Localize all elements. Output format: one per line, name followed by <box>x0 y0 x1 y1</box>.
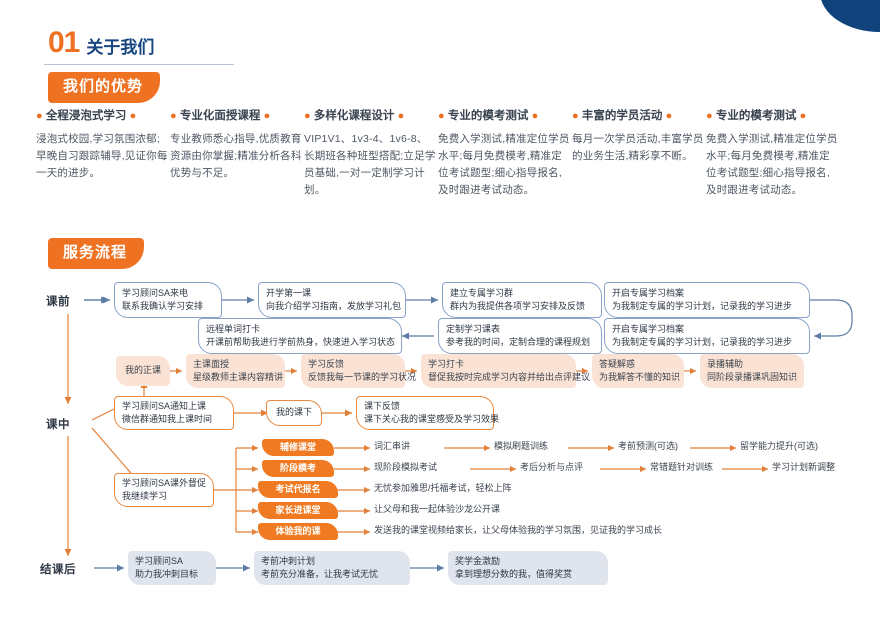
flow-node-main-1: 主课面授 星级教师主课内容精讲 <box>186 354 285 388</box>
flow-tag-1: 辅修课堂 <box>262 439 334 456</box>
node-line-2: 反馈我每一节课的学习状况 <box>308 371 398 384</box>
flow-step-5-1: 发送我的课堂视频给家长，让父母体验我的学习氛围，见证我的学习成长 <box>374 524 662 537</box>
advantage-title-text: 专业的模考测试 <box>716 110 797 122</box>
node-line-1: 学习顾问SA <box>135 555 209 568</box>
node-line-1: 主课面授 <box>193 358 278 371</box>
node-line-2: 我继续学习 <box>122 490 206 503</box>
node-line-2: 群内为我提供各项学习安排及反馈 <box>450 300 594 313</box>
advantage-title-text: 专业的模考测试 <box>448 110 529 122</box>
flow-step-1-4: 留学能力提升(可选) <box>740 440 818 453</box>
flow-node-pre-2: 开学第一课 向我介绍学习指南，发放学习礼包 <box>258 282 406 318</box>
advantage-card: ● 丰富的学员活动 ● 每月一次学员活动,丰富学员的业务生活,精彩享不断。 <box>572 110 705 199</box>
flow-tag-2: 阶段模考 <box>262 460 334 477</box>
node-line-1: 学习反馈 <box>308 358 398 371</box>
bullet-icon: ● <box>398 110 405 122</box>
flow-node-pre-1: 学习顾问SA来电 联系我确认学习安排 <box>114 282 222 318</box>
advantage-title: ● 多样化课程设计 ● <box>304 110 437 124</box>
node-line-2: 课下关心我的课堂感受及学习效果 <box>364 413 486 426</box>
advantage-title: ● 专业的模考测试 ● <box>706 110 839 124</box>
flow-node-main-5: 录播辅助 同阶段录播课巩固知识 <box>700 354 804 388</box>
node-line-2: 开课前帮助我进行学前热身，快速进入学习状态 <box>206 336 394 349</box>
advantage-body: VIP1V1、1v3-4、1v6-8、长期班各种班型搭配;立足学员基础,一对一定… <box>304 131 437 199</box>
advantage-title: ● 全程浸泡式学习 ● <box>36 110 169 124</box>
flow-step-4-1: 让父母和我一起体验沙龙公开课 <box>374 503 500 516</box>
flow-step-2-4: 学习计划新调整 <box>772 461 835 474</box>
bullet-icon: ● <box>170 110 177 122</box>
flow-node-mid-3: 课下反馈 课下关心我的课堂感受及学习效果 <box>356 396 494 430</box>
advantage-card: ● 专业的模考测试 ● 免费入学测试,精准定位学员水平;每月免费模考,精准定位考… <box>706 110 839 199</box>
node-line-2: 星级教师主课内容精讲 <box>193 371 278 384</box>
node-line-1: 开学第一课 <box>266 287 398 300</box>
flow-node-mid-1: 学习顾问SA通知上课 微信群通知我上课时间 <box>114 396 234 430</box>
node-line-1: 定制学习课表 <box>446 323 594 336</box>
node-line-2: 同阶段录播课巩固知识 <box>707 371 797 384</box>
advantage-title-text: 专业化面授课程 <box>180 110 261 122</box>
node-line-1: 学习打卡 <box>428 358 569 371</box>
section-divider <box>44 64 234 65</box>
advantage-body: 专业教师悉心指导,优质教育资源由你掌握;精准分析各科优势与不足。 <box>170 131 303 182</box>
advantage-title: ● 专业的模考测试 ● <box>438 110 571 124</box>
corner-decoration <box>820 0 880 32</box>
pill-advantage: 我们的优势 <box>48 72 160 103</box>
bullet-icon: ● <box>666 110 673 122</box>
flow-node-pre-7: 开启专属学习档案 为我制定专属的学习计划，记录我的学习进步 <box>604 318 810 354</box>
flow-node-main-3: 学习打卡 督促我按时完成学习内容并给出点评建议 <box>421 354 576 388</box>
bullet-icon: ● <box>800 110 807 122</box>
advantage-title-text: 全程浸泡式学习 <box>46 110 127 122</box>
bullet-icon: ● <box>304 110 311 122</box>
flow-node-main-4: 答疑解惑 为我解答不懂的知识 <box>592 354 684 388</box>
node-line-1: 答疑解惑 <box>599 358 677 371</box>
node-line-1: 考前冲刺计划 <box>261 555 403 568</box>
node-line-1: 我的正课 <box>125 364 161 377</box>
flow-node-mid-source: 学习顾问SA课外督促 我继续学习 <box>114 473 214 507</box>
node-line-1: 远程单词打卡 <box>206 323 394 336</box>
advantage-title: ● 丰富的学员活动 ● <box>572 110 705 124</box>
node-line-1: 课下反馈 <box>364 400 486 413</box>
flow-node-after-2: 考前冲刺计划 考前充分准备，让我考试无忧 <box>254 551 410 585</box>
advantage-body: 免费入学测试,精准定位学员水平;每月免费模考,精准定位考试题型;细心指导报名,及… <box>438 131 571 199</box>
node-line-2: 向我介绍学习指南，发放学习礼包 <box>266 300 398 313</box>
section-title: 关于我们 <box>86 39 154 58</box>
flow-node-pre-3: 建立专属学习群 群内为我提供各项学习安排及反馈 <box>442 282 602 318</box>
section-number: 01 <box>48 28 79 58</box>
stage-label-pre: 课前 <box>46 293 70 309</box>
advantage-body: 每月一次学员活动,丰富学员的业务生活,精彩享不断。 <box>572 131 705 165</box>
node-line-2: 为我制定专属的学习计划，记录我的学习进步 <box>612 336 802 349</box>
node-line-2: 为我制定专属的学习计划，记录我的学习进步 <box>612 300 802 313</box>
flow-tag-3: 考试代报名 <box>258 481 338 498</box>
advantage-card: ● 专业化面授课程 ● 专业教师悉心指导,优质教育资源由你掌握;精准分析各科优势… <box>170 110 303 199</box>
node-line-1: 学习顾问SA来电 <box>122 287 214 300</box>
node-line-1: 学习顾问SA课外督促 <box>122 477 206 490</box>
flow-node-pre-4: 开启专属学习档案 为我制定专属的学习计划，记录我的学习进步 <box>604 282 810 318</box>
advantages-list: ● 全程浸泡式学习 ● 浸泡式校园,学习氛围浓郁;早晚自习跟踪辅导,见证你每一天… <box>36 110 876 199</box>
flow-node-mid-2: 我的课下 <box>266 400 322 426</box>
node-line-2: 参考我的时间，定制合理的课程规划 <box>446 336 594 349</box>
flow-step-2-2: 考后分析与点评 <box>520 461 583 474</box>
flow-node-after-3: 奖学金激励 拿到理想分数的我，值得奖赏 <box>448 551 608 585</box>
node-line-2: 微信群通知我上课时间 <box>122 413 226 426</box>
flow-step-1-2: 模拟刷题训练 <box>494 440 548 453</box>
flow-node-after-1: 学习顾问SA 助力我冲刺目标 <box>128 551 216 585</box>
flow-step-2-1: 现阶段模拟考试 <box>374 461 437 474</box>
flow-step-3-1: 无忧参加雅思/托福考试，轻松上阵 <box>374 482 512 495</box>
bullet-icon: ● <box>532 110 539 122</box>
node-line-1: 开启专属学习档案 <box>612 287 802 300</box>
flow-node-main-0: 我的正课 <box>116 356 170 386</box>
section-header: 01 关于我们 <box>48 28 154 58</box>
flow-node-pre-6: 定制学习课表 参考我的时间，定制合理的课程规划 <box>438 318 602 354</box>
bullet-icon: ● <box>706 110 713 122</box>
flow-step-1-1: 词汇串讲 <box>374 440 410 453</box>
stage-label-after: 结课后 <box>40 561 76 577</box>
node-line-2: 助力我冲刺目标 <box>135 568 209 581</box>
advantage-card: ● 全程浸泡式学习 ● 浸泡式校园,学习氛围浓郁;早晚自习跟踪辅导,见证你每一天… <box>36 110 169 199</box>
node-line-2: 拿到理想分数的我，值得奖赏 <box>455 568 601 581</box>
node-line-1: 我的课下 <box>276 406 312 419</box>
advantage-card: ● 专业的模考测试 ● 免费入学测试,精准定位学员水平;每月免费模考,精准定位考… <box>438 110 571 199</box>
flow-step-1-3: 考前预测(可选) <box>618 440 678 453</box>
bullet-icon: ● <box>36 110 43 122</box>
node-line-1: 奖学金激励 <box>455 555 601 568</box>
bullet-icon: ● <box>438 110 445 122</box>
advantage-title-text: 丰富的学员活动 <box>582 110 663 122</box>
advantage-title: ● 专业化面授课程 ● <box>170 110 303 124</box>
node-line-1: 开启专属学习档案 <box>612 323 802 336</box>
node-line-1: 建立专属学习群 <box>450 287 594 300</box>
node-line-1: 录播辅助 <box>707 358 797 371</box>
stage-label-mid: 课中 <box>46 416 70 432</box>
bullet-icon: ● <box>130 110 137 122</box>
node-line-1: 学习顾问SA通知上课 <box>122 400 226 413</box>
pill-process: 服务流程 <box>48 238 144 269</box>
advantage-title-text: 多样化课程设计 <box>314 110 395 122</box>
flow-tag-4: 家长进课堂 <box>258 502 338 519</box>
flow-tag-5: 体验我的课 <box>258 523 338 540</box>
advantage-body: 浸泡式校园,学习氛围浓郁;早晚自习跟踪辅导,见证你每一天的进步。 <box>36 131 169 182</box>
advantage-body: 免费入学测试,精准定位学员水平;每月免费模考,精准定位考试题型;细心指导报名,及… <box>706 131 839 199</box>
node-line-2: 考前充分准备，让我考试无忧 <box>261 568 403 581</box>
node-line-2: 督促我按时完成学习内容并给出点评建议 <box>428 371 569 384</box>
bullet-icon: ● <box>572 110 579 122</box>
flow-node-main-2: 学习反馈 反馈我每一节课的学习状况 <box>301 354 405 388</box>
service-process-flowchart: 课前 课中 结课后 学习顾问SA来电 联系我确认学习安排 开学第一课 向我介绍学… <box>0 268 880 618</box>
node-line-2: 为我解答不懂的知识 <box>599 371 677 384</box>
node-line-2: 联系我确认学习安排 <box>122 300 214 313</box>
bullet-icon: ● <box>264 110 271 122</box>
advantage-card: ● 多样化课程设计 ● VIP1V1、1v3-4、1v6-8、长期班各种班型搭配… <box>304 110 437 199</box>
flow-step-2-3: 常错题针对训练 <box>650 461 713 474</box>
flow-node-pre-5: 远程单词打卡 开课前帮助我进行学前热身，快速进入学习状态 <box>198 318 402 354</box>
